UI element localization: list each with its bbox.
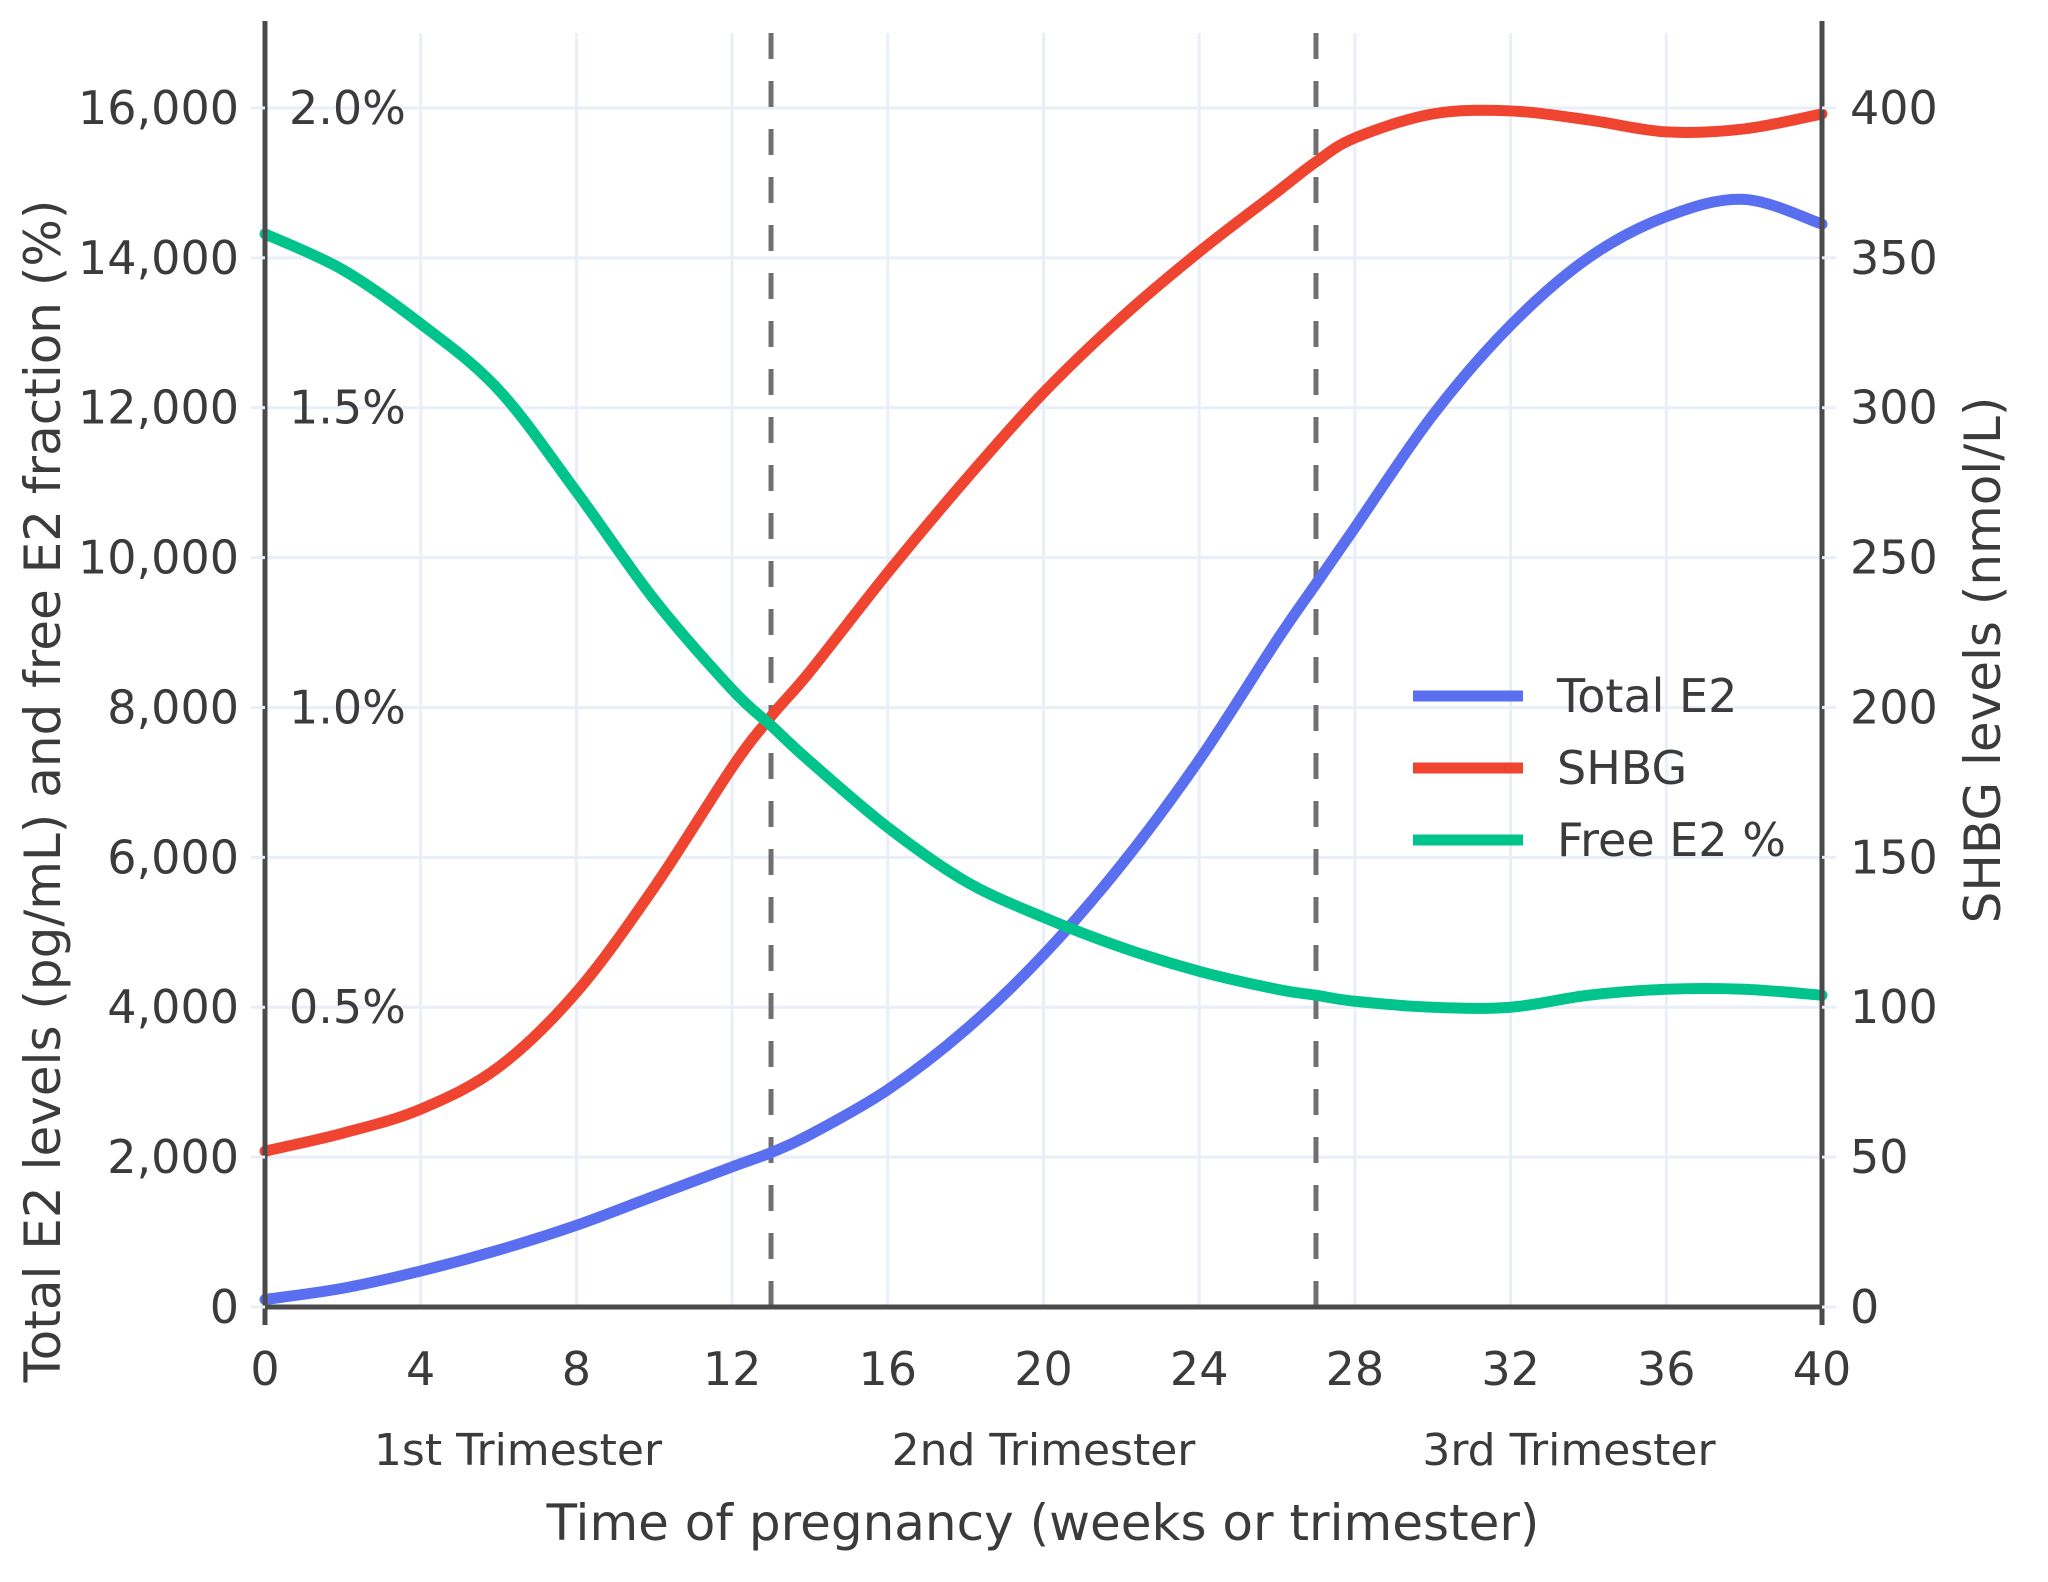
left-axis-tick-label: 12,000 — [78, 381, 239, 435]
right-axis-tick-label: 150 — [1850, 830, 1938, 884]
x-axis-tick-label: 8 — [562, 1342, 591, 1396]
right-axis-tick-label: 400 — [1850, 81, 1938, 135]
left-axis-tick-label: 14,000 — [78, 231, 239, 285]
right-axis-tick-label: 250 — [1850, 531, 1938, 585]
legend-item[interactable]: Total E2 — [1413, 669, 1737, 723]
right-axis-tick-label: 0 — [1850, 1280, 1879, 1334]
right-axis-tick-label: 100 — [1850, 980, 1938, 1034]
x-axis-tick-label: 36 — [1637, 1342, 1696, 1396]
legend-label: SHBG — [1557, 741, 1687, 795]
legend-label: Free E2 % — [1557, 813, 1786, 867]
x-axis-tick-label: 40 — [1793, 1342, 1852, 1396]
x-axis-tick-label: 16 — [859, 1342, 918, 1396]
left-axis-tick-label: 10,000 — [78, 531, 239, 585]
legend-item[interactable]: Free E2 % — [1413, 813, 1786, 867]
trimester-label: 2nd Trimester — [892, 1425, 1197, 1476]
trimester-label: 1st Trimester — [374, 1425, 663, 1476]
x-axis-title: Time of pregnancy (weeks or trimester) — [546, 1494, 1540, 1552]
right-axis-tick-labels: 050100150200250300350400 — [1822, 81, 1938, 1334]
x-axis-tick-label: 0 — [250, 1342, 279, 1396]
left-axis-tick-label: 6,000 — [107, 830, 239, 884]
right-axis-tick-label: 50 — [1850, 1130, 1909, 1184]
trimester-label: 3rd Trimester — [1422, 1425, 1716, 1476]
free-e2-percent-label: 1.0% — [289, 680, 406, 734]
x-axis-tick-label: 20 — [1014, 1342, 1073, 1396]
x-axis-tick-label: 32 — [1481, 1342, 1540, 1396]
x-axis-tick-label: 28 — [1326, 1342, 1385, 1396]
chart-legend[interactable]: Total E2SHBGFree E2 % — [1413, 669, 1786, 867]
left-axis-tick-label: 0 — [210, 1280, 239, 1334]
free-e2-percent-label: 1.5% — [289, 381, 406, 435]
left-axis-title: Total E2 levels (pg/mL) and free E2 frac… — [14, 200, 72, 1384]
right-axis-tick-label: 200 — [1850, 680, 1938, 734]
left-axis-tick-label: 16,000 — [78, 81, 239, 135]
bottom-axis-tick-labels: 0481216202428323640 — [250, 1342, 1851, 1396]
right-axis-tick-label: 300 — [1850, 381, 1938, 435]
line-chart-canvas: 02,0004,0006,0008,00010,00012,00014,0001… — [0, 0, 2048, 1582]
x-axis-tick-label: 24 — [1170, 1342, 1229, 1396]
right-axis-title: SHBG levels (nmol/L) — [1954, 397, 2012, 924]
left-axis-tick-label: 8,000 — [107, 680, 239, 734]
free-e2-percent-label: 0.5% — [289, 980, 406, 1034]
x-axis-tick-label: 4 — [406, 1342, 435, 1396]
legend-item[interactable]: SHBG — [1413, 741, 1687, 795]
x-axis-tick-label: 12 — [703, 1342, 762, 1396]
free-e2-percent-label: 2.0% — [289, 81, 406, 135]
left-axis-tick-label: 2,000 — [107, 1130, 239, 1184]
left-axis-tick-label: 4,000 — [107, 980, 239, 1034]
legend-label: Total E2 — [1556, 669, 1737, 723]
chart-figure: 02,0004,0006,0008,00010,00012,00014,0001… — [0, 0, 2048, 1582]
left-axis-tick-labels: 02,0004,0006,0008,00010,00012,00014,0001… — [78, 81, 265, 1334]
trimester-labels-group: 1st Trimester2nd Trimester3rd Trimester — [374, 1425, 1717, 1476]
right-axis-tick-label: 350 — [1850, 231, 1938, 285]
